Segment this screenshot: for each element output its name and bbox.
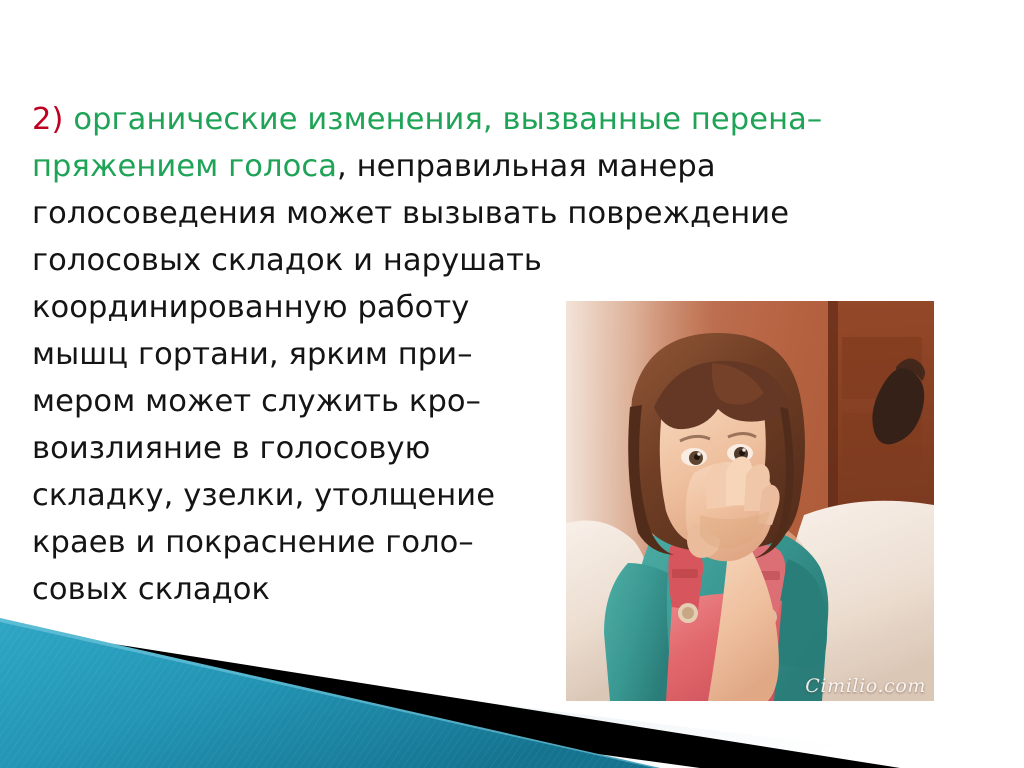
photo-watermark: Cimilio.com — [805, 675, 926, 697]
space-1 — [64, 102, 74, 137]
body-text-2: , неправильная манера — [337, 149, 716, 184]
text-line-8: воизлияние в голосовую — [32, 425, 592, 472]
girl-covering-mouth-photo: Cimilio.com — [566, 301, 934, 701]
highlight-text-2: пряжением голоса — [32, 149, 337, 184]
text-line-3: голосоведения может вызывать повреждение — [32, 190, 592, 237]
text-line-6: мышц гортани, ярким при– — [32, 331, 592, 378]
text-line-4: голосовых складок и нарушать — [32, 237, 592, 284]
highlight-text-1: органические изменения, вызванные перена… — [73, 102, 822, 137]
text-line-7: мером может служить кро– — [32, 378, 592, 425]
text-line-1: 2) органические изменения, вызванные пер… — [32, 96, 592, 143]
list-number: 2) — [32, 102, 64, 137]
text-line-5: координированную работу — [32, 284, 592, 331]
text-line-10: краев и покраснение голо– — [32, 519, 592, 566]
text-line-9: складку, узелки, утолщение — [32, 472, 592, 519]
text-line-2: пряжением голоса, неправильная манера — [32, 143, 592, 190]
slide-body-text: 2) органические изменения, вызванные пер… — [32, 96, 592, 613]
text-line-11: совых складок — [32, 566, 592, 613]
presentation-slide: 2) органические изменения, вызванные пер… — [0, 0, 1024, 768]
